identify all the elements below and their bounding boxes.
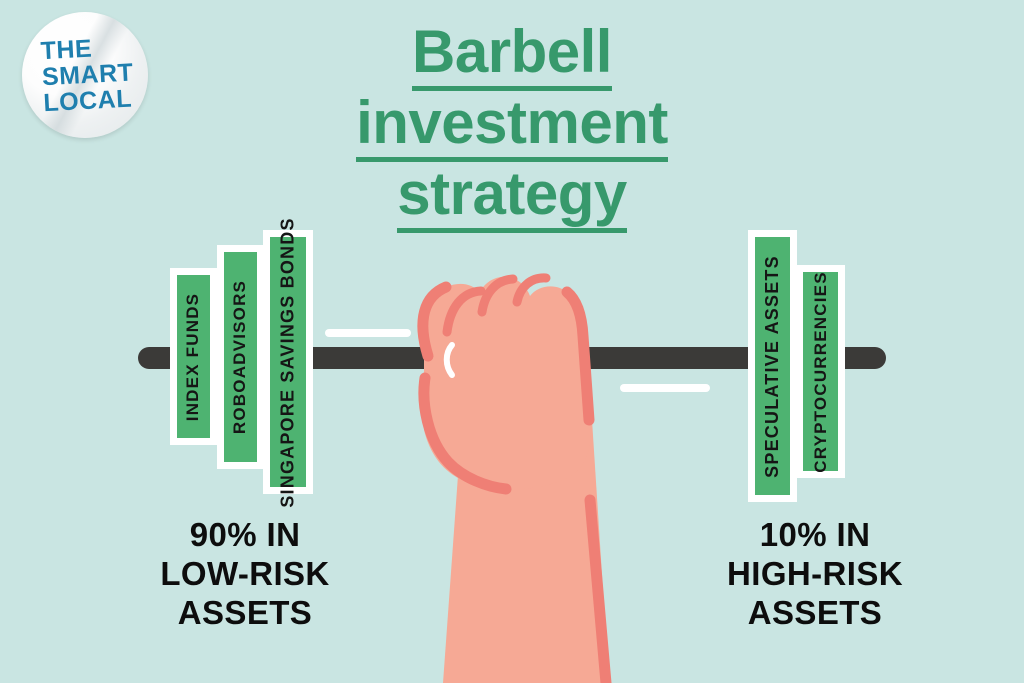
- plate-label: INDEX FUNDS: [184, 292, 204, 420]
- bar-highlight-right-icon: [620, 384, 710, 392]
- allocation-left-percent: 90% IN: [110, 515, 380, 554]
- fist-shape: [421, 277, 591, 490]
- allocation-right-line3: ASSETS: [680, 593, 950, 632]
- forearm-shape: [443, 420, 609, 683]
- finger-crease-3-icon: [517, 278, 546, 302]
- plate-label: ROBOADVISORS: [231, 280, 251, 434]
- bar-highlight-left-icon: [325, 329, 411, 337]
- plate-singapore-savings-bonds: SINGAPORE SAVINGS BONDS: [263, 230, 313, 494]
- plate-label: SINGAPORE SAVINGS BONDS: [278, 217, 299, 507]
- plate-index-funds: INDEX FUNDS: [170, 268, 217, 445]
- allocation-right-percent: 10% IN: [680, 515, 950, 554]
- plate-speculative-assets: SPECULATIVE ASSETS: [748, 230, 797, 502]
- finger-crease-2-icon: [482, 279, 513, 312]
- plate-roboadvisors: ROBOADVISORS: [217, 245, 264, 469]
- page-title: Barbell investment strategy: [262, 20, 762, 233]
- logo-wordmark: THE SMART LOCAL: [34, 34, 135, 117]
- fist-bottom-outline: [424, 378, 506, 489]
- finger-crease-1-icon: [447, 291, 481, 332]
- title-line-3: strategy: [262, 162, 762, 233]
- plate-label: CRYPTOCURRENCIES: [811, 271, 831, 473]
- allocation-right-line2: HIGH-RISK: [680, 554, 950, 593]
- allocation-label-high-risk: 10% IN HIGH-RISK ASSETS: [680, 515, 950, 632]
- title-line-2: investment: [262, 91, 762, 162]
- allocation-left-line3: ASSETS: [110, 593, 380, 632]
- forearm-outline: [590, 500, 606, 683]
- allocation-left-line2: LOW-RISK: [110, 554, 380, 593]
- the-smart-local-logo: THE SMART LOCAL: [22, 12, 148, 138]
- allocation-label-low-risk: 90% IN LOW-RISK ASSETS: [110, 515, 380, 632]
- plate-cryptocurrencies: CRYPTOCURRENCIES: [796, 265, 845, 478]
- fist-outline: [423, 287, 446, 356]
- infographic-canvas: THE SMART LOCAL Barbell investment strat…: [0, 0, 1024, 683]
- logo-line-3: LOCAL: [43, 85, 136, 116]
- title-line-1: Barbell: [262, 20, 762, 91]
- plate-label: SPECULATIVE ASSETS: [762, 255, 783, 478]
